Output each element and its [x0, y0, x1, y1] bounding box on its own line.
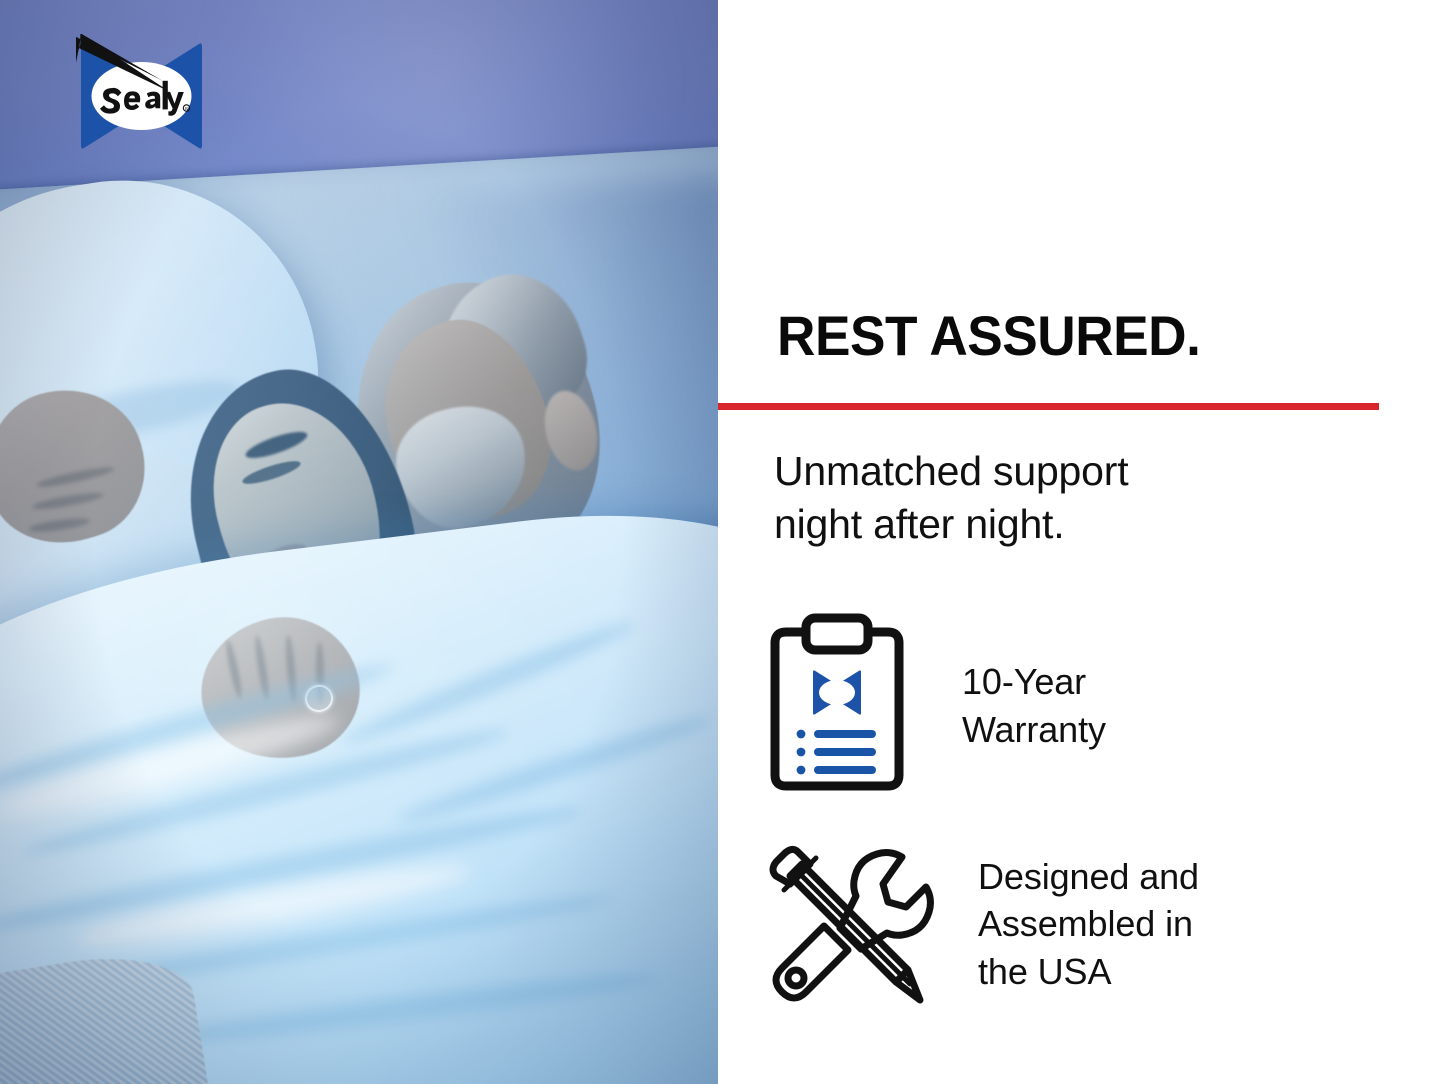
subheadline-line-1: Unmatched support — [774, 448, 1128, 494]
subheadline-line-2: night after night. — [774, 501, 1064, 547]
feature-made-line-1: Designed and — [978, 853, 1199, 901]
pencil-wrench-icon — [762, 836, 938, 1012]
feature-list: 10-Year Warranty — [762, 612, 1362, 1012]
feature-made-in-usa: Designed and Assembled in the USA — [762, 836, 1362, 1012]
bedroom-photo: R — [0, 0, 718, 1084]
feature-made-line-2: Assembled in — [978, 900, 1199, 948]
feature-made-line-3: the USA — [978, 948, 1199, 996]
photo-stage — [0, 0, 718, 1084]
clipboard-warranty-icon — [762, 612, 912, 800]
page-title: REST ASSURED. — [777, 303, 1200, 368]
content-panel: REST ASSURED. Unmatched support night af… — [718, 0, 1445, 1084]
rest-assured-ad: R REST ASSURED. Unmatched support night … — [0, 0, 1445, 1084]
subheadline: Unmatched support night after night. — [774, 445, 1128, 552]
feature-warranty: 10-Year Warranty — [762, 612, 1362, 800]
feature-made-in-usa-label: Designed and Assembled in the USA — [978, 853, 1199, 996]
feature-warranty-line-2: Warranty — [962, 706, 1106, 754]
feature-warranty-label: 10-Year Warranty — [962, 658, 1106, 753]
svg-text:R: R — [185, 106, 188, 111]
sealy-logo: R — [76, 34, 207, 158]
red-divider — [718, 403, 1379, 410]
feature-warranty-line-1: 10-Year — [962, 658, 1106, 706]
